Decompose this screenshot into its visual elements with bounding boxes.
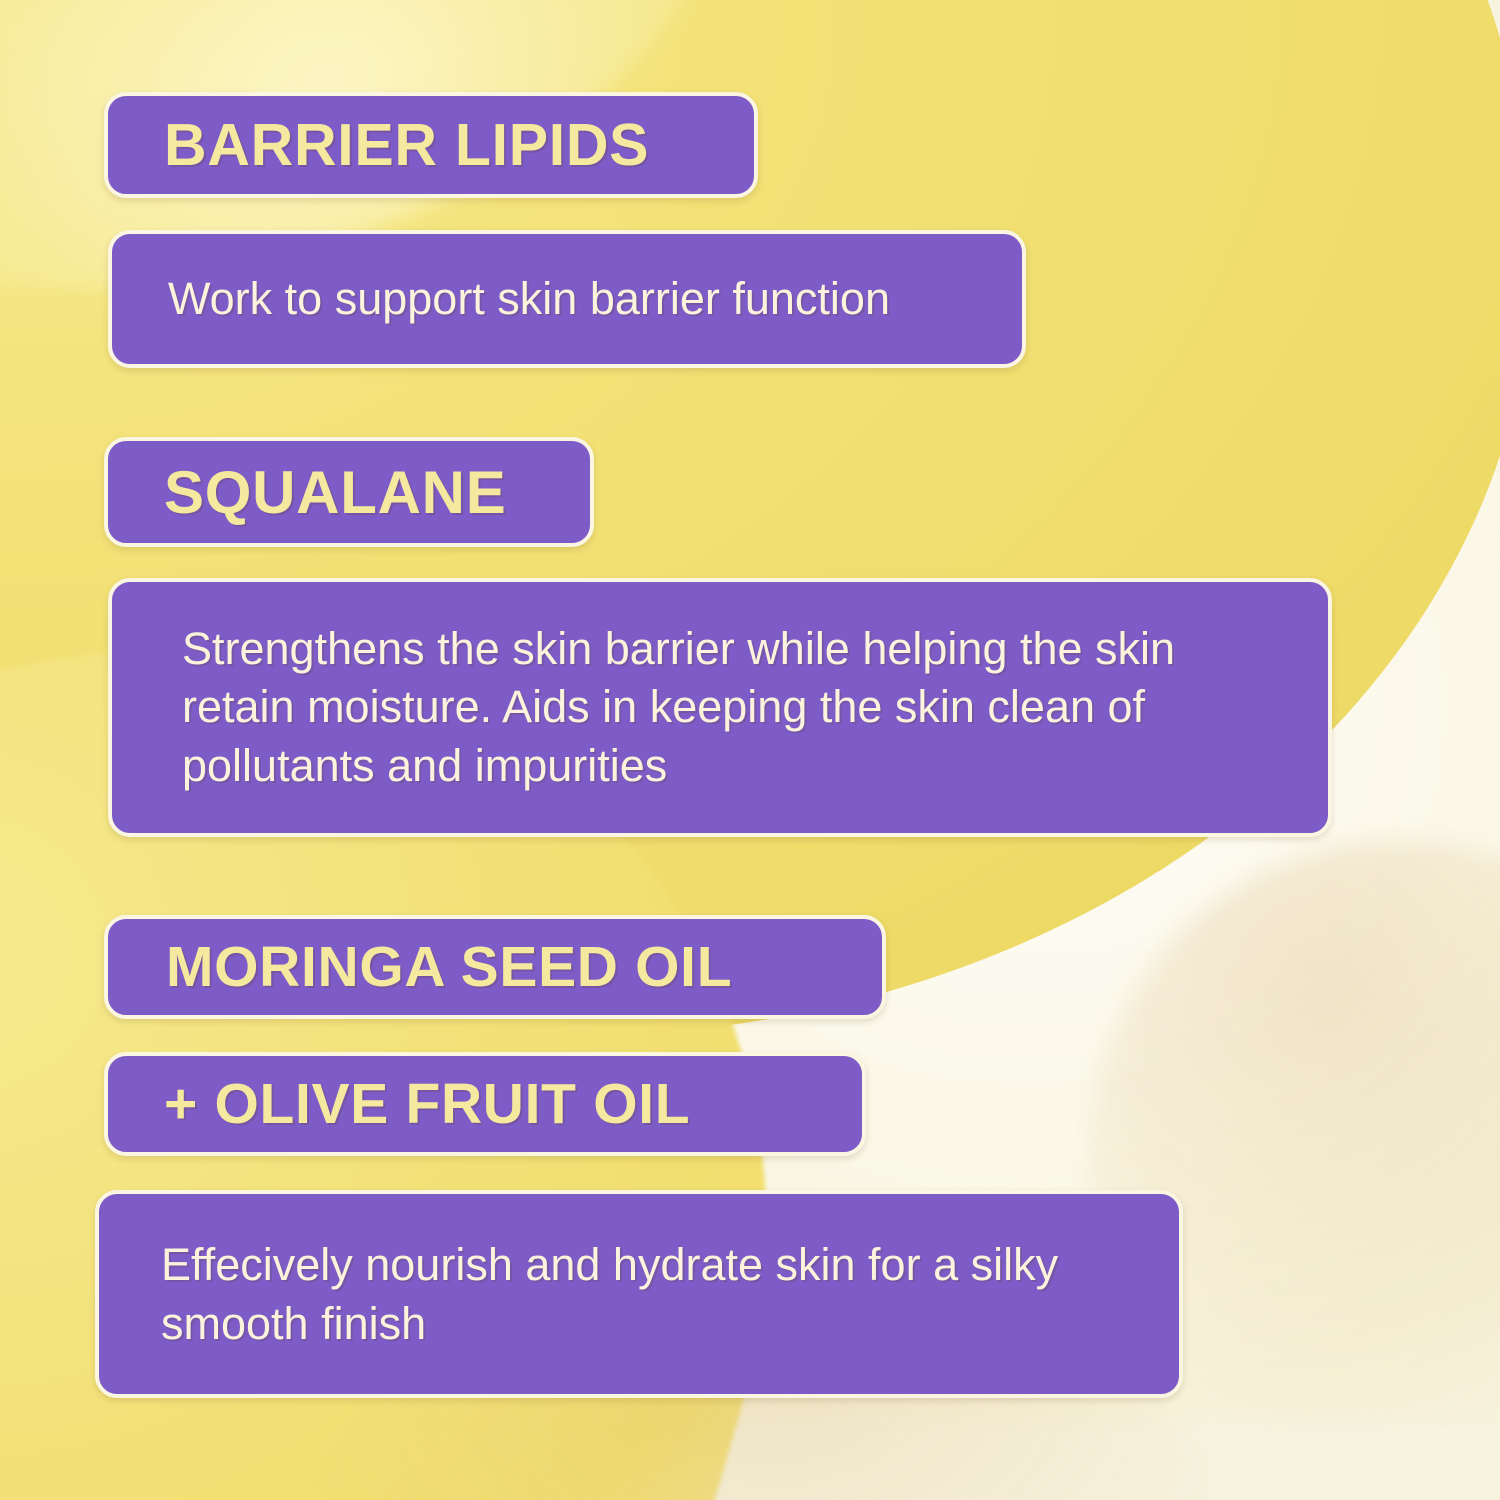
ingredient-title-moringa-seed-oil: MORINGA SEED OIL [166, 934, 732, 1000]
ingredient-description-pill-squalane: Strengthens the skin barrier while helpi… [108, 578, 1332, 837]
ingredient-description-barrier-lipids: Work to support skin barrier function [168, 272, 890, 327]
ingredient-title-pill-barrier-lipids: BARRIER LIPIDS [104, 92, 758, 198]
ingredient-benefits-infographic: BARRIER LIPIDS Work to support skin barr… [0, 0, 1500, 1500]
ingredient-title-squalane: SQUALANE [164, 458, 506, 527]
ingredient-title-pill-squalane: SQUALANE [104, 437, 594, 547]
ingredient-description-pill-barrier-lipids: Work to support skin barrier function [108, 230, 1026, 368]
ingredient-description-squalane: Strengthens the skin barrier while helpi… [182, 620, 1280, 796]
ingredient-description-oil-blend: Effecively nourish and hydrate skin for … [161, 1235, 1135, 1354]
ingredient-description-pill-oil-blend: Effecively nourish and hydrate skin for … [95, 1190, 1183, 1398]
ingredient-title-olive-fruit-oil: + OLIVE FRUIT OIL [164, 1071, 690, 1137]
ingredient-title-barrier-lipids: BARRIER LIPIDS [164, 111, 649, 179]
ingredient-title-pill-moringa-seed-oil: MORINGA SEED OIL [104, 915, 886, 1019]
ingredient-title-pill-olive-fruit-oil: + OLIVE FRUIT OIL [104, 1052, 866, 1156]
